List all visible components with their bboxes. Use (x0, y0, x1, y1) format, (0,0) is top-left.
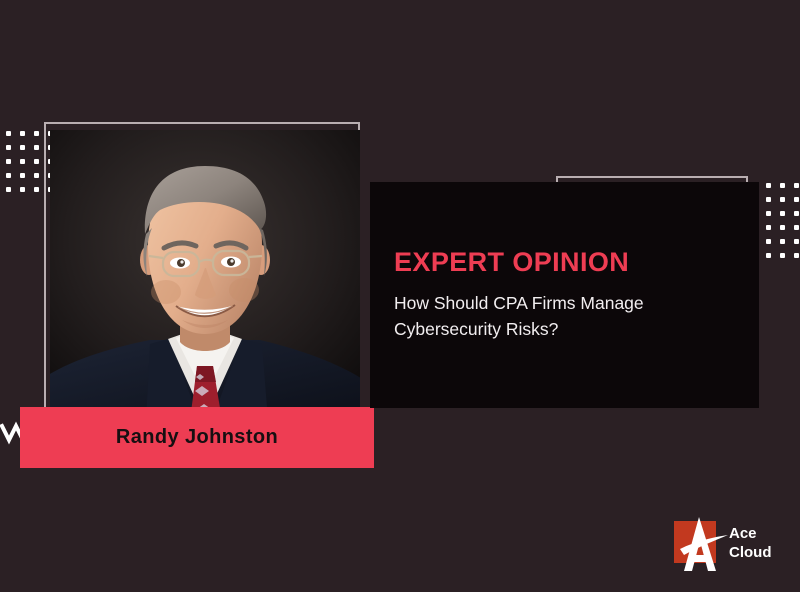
logo-line-2: Cloud (729, 544, 772, 563)
headline-text: How Should CPA Firms Manage Cybersecurit… (394, 290, 724, 343)
dot (794, 225, 799, 230)
dot (794, 211, 799, 216)
dot (766, 197, 771, 202)
speaker-name: Randy Johnston (116, 426, 278, 449)
dot (6, 187, 11, 192)
logo-line-1: Ace (729, 525, 772, 544)
dot (6, 159, 11, 164)
dot (794, 239, 799, 244)
dot (20, 187, 25, 192)
dot (6, 145, 11, 150)
dot (6, 131, 11, 136)
dot (780, 197, 785, 202)
logo-wordmark: Ace Cloud (729, 525, 772, 563)
text-panel: EXPERT OPINION How Should CPA Firms Mana… (370, 182, 759, 408)
expert-opinion-graphic: Randy Johnston EXPERT OPINION How Should… (0, 0, 800, 592)
eyebrow-label: EXPERT OPINION (394, 248, 759, 278)
dot (34, 173, 39, 178)
dot (34, 145, 39, 150)
dot (780, 183, 785, 188)
dot (34, 159, 39, 164)
dot (20, 159, 25, 164)
ace-cloud-logo: Ace Cloud (672, 515, 782, 577)
dot (780, 239, 785, 244)
dot (766, 211, 771, 216)
dot (766, 253, 771, 258)
portrait-illustration (50, 130, 360, 420)
dot (20, 173, 25, 178)
dot (794, 253, 799, 258)
dot (766, 239, 771, 244)
dot (6, 173, 11, 178)
dot (780, 225, 785, 230)
dot (20, 145, 25, 150)
dot (794, 183, 799, 188)
dot-grid-right-decoration (752, 183, 800, 258)
dot (34, 187, 39, 192)
ace-cloud-a-mark-icon (672, 515, 728, 575)
speaker-name-banner: Randy Johnston (20, 407, 374, 468)
dot (34, 131, 39, 136)
dot (766, 225, 771, 230)
dot (780, 253, 785, 258)
dot (780, 211, 785, 216)
dot (766, 183, 771, 188)
dot (794, 197, 799, 202)
portrait-photo (50, 130, 360, 420)
dot (20, 131, 25, 136)
